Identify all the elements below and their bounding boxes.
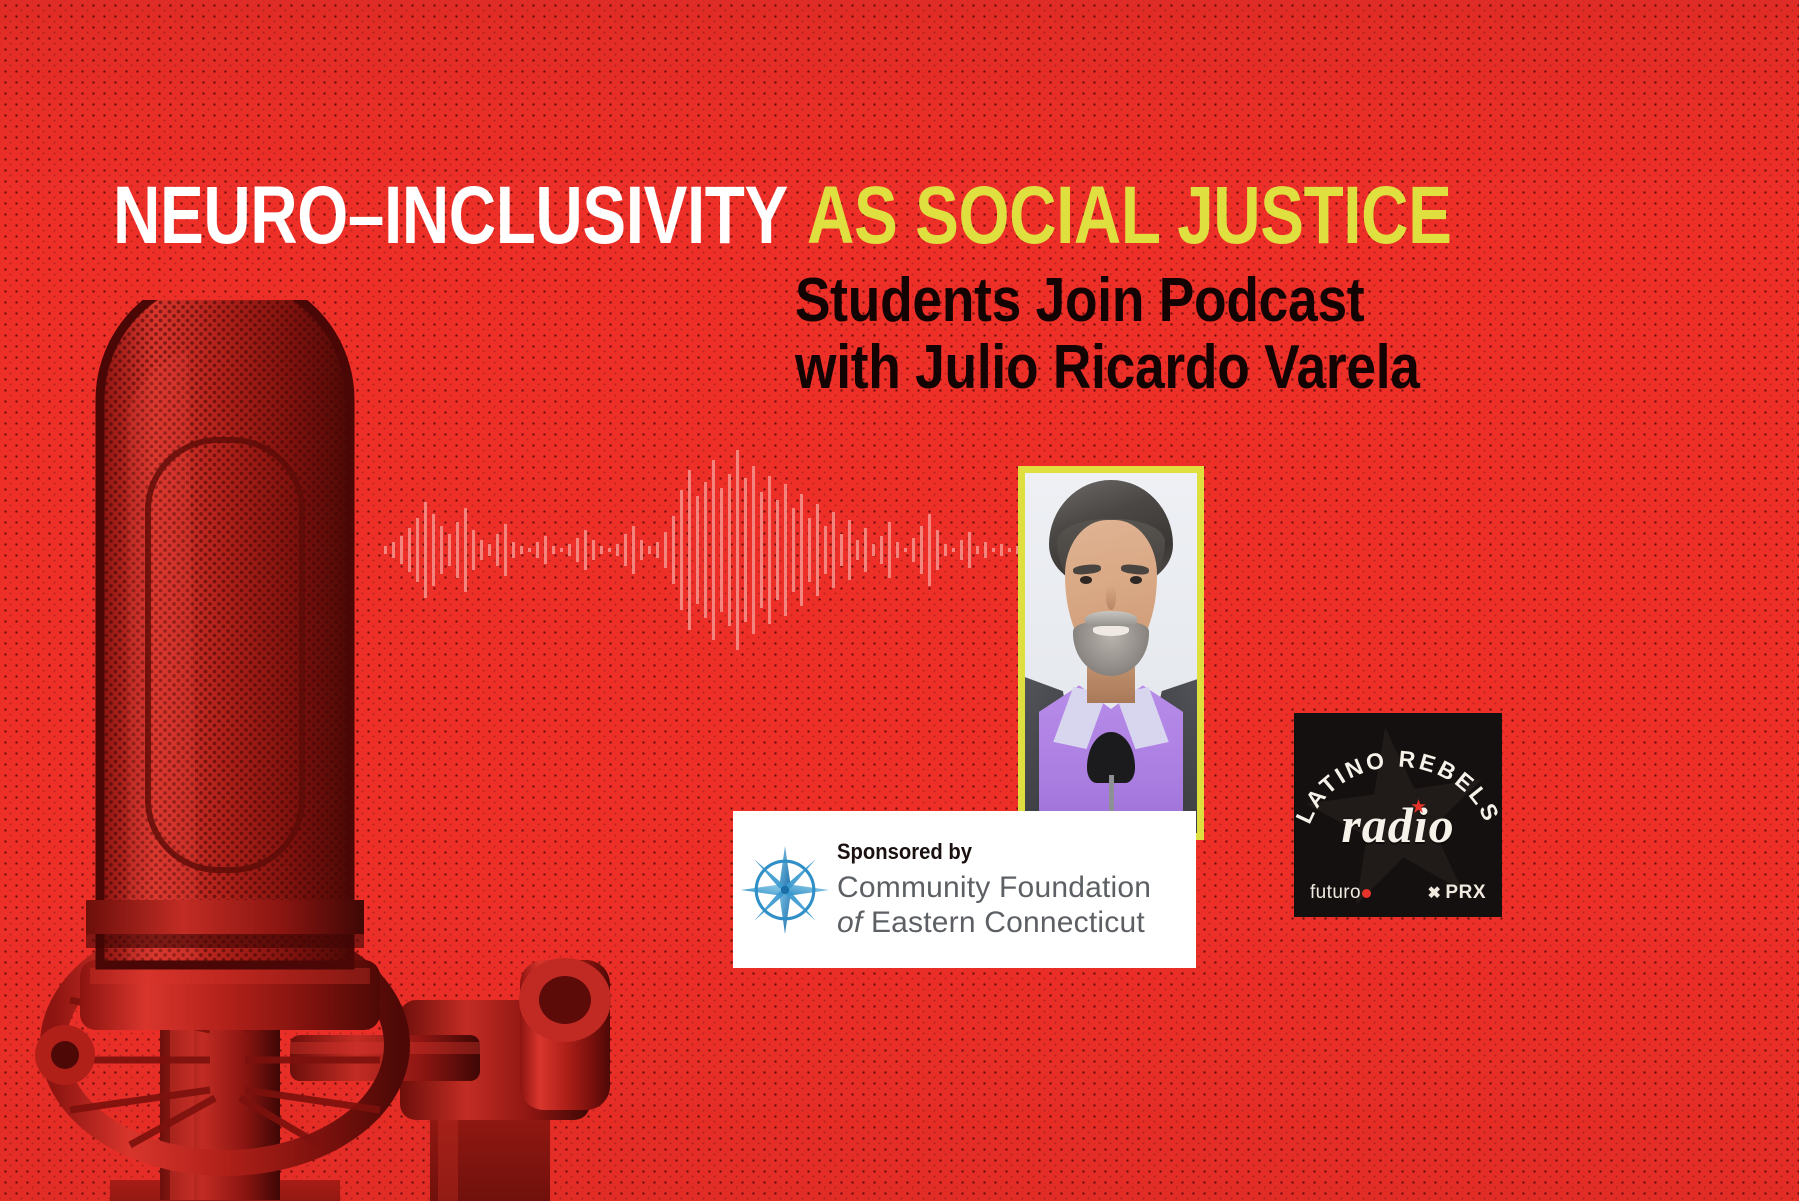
logo-script-word: radio [1294,796,1502,854]
sponsor-name-line-2: of Eastern Connecticut [837,905,1186,940]
futuro-dot-icon [1362,889,1371,898]
headshot-photo [1025,473,1197,833]
futuro-logo: futuro [1310,882,1371,904]
subtitle: Students Join Podcast with Julio Ricardo… [795,268,1535,402]
promo-graphic: NEURO–INCLUSIVITY AS SOCIAL JUSTICE Stud… [0,0,1799,1201]
sponsor-name-region: Eastern Connecticut [862,906,1144,939]
guest-headshot [1018,466,1204,840]
subtitle-line-2: with Julio Ricardo Varela [795,335,1431,402]
prx-wordmark: PRX [1445,882,1486,904]
headline-white-part: NEURO–INCLUSIVITY [113,180,788,252]
sponsor-name-line-1: Community Foundation [837,870,1186,905]
latino-rebels-radio-logo: LATINO REBELS radio futuro ✖PRX [1294,713,1502,917]
studio-microphone-icon [0,300,700,1201]
futuro-wordmark: futuro [1310,882,1361,904]
compass-rose-icon [733,842,837,938]
subtitle-line-1: Students Join Podcast [795,268,1431,335]
page-title: NEURO–INCLUSIVITY AS SOCIAL JUSTICE [113,172,1513,252]
prx-logo: ✖PRX [1428,882,1486,904]
sponsor-panel: Sponsored by Community Foundation of Eas… [733,811,1196,968]
sponsored-by-label: Sponsored by [837,839,1158,865]
sponsor-name-of: of [837,906,862,939]
headline-yellow-part: AS SOCIAL JUSTICE [807,180,1451,252]
x-mark-icon: ✖ [1428,883,1442,903]
